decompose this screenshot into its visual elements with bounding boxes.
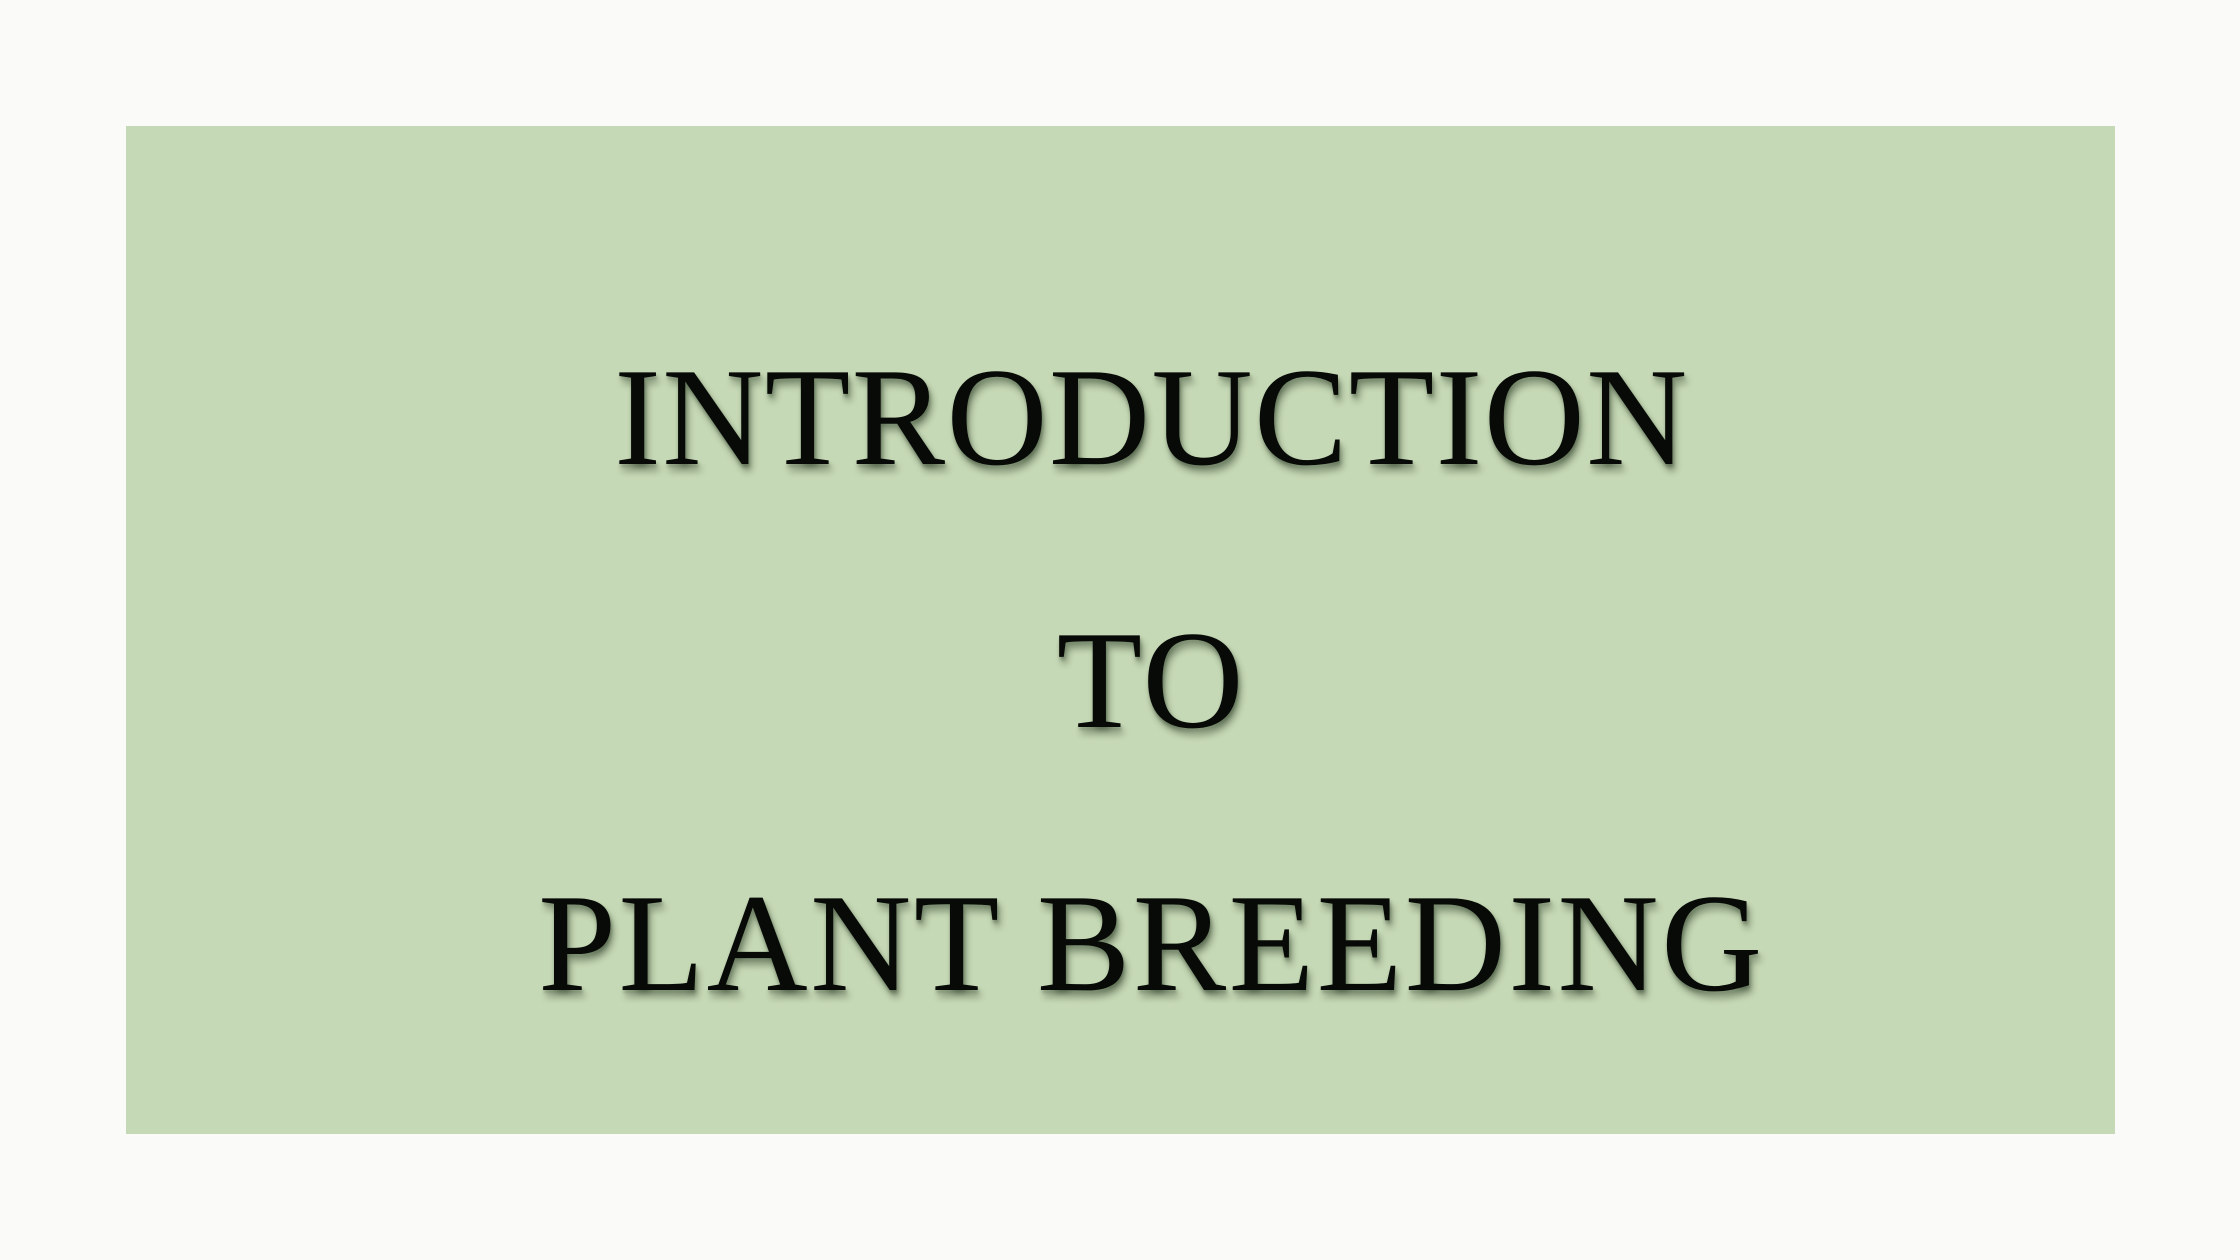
slide-title-block: INTRODUCTION TO PLANT BREEDING xyxy=(126,348,2115,1014)
slide-title-line-1: INTRODUCTION xyxy=(188,348,2115,488)
page-canvas: INTRODUCTION TO PLANT BREEDING xyxy=(0,0,2240,1260)
slide-title-line-2: TO xyxy=(188,611,2115,751)
slide-panel: INTRODUCTION TO PLANT BREEDING xyxy=(126,126,2115,1134)
slide-title-line-3: PLANT BREEDING xyxy=(188,874,2115,1014)
